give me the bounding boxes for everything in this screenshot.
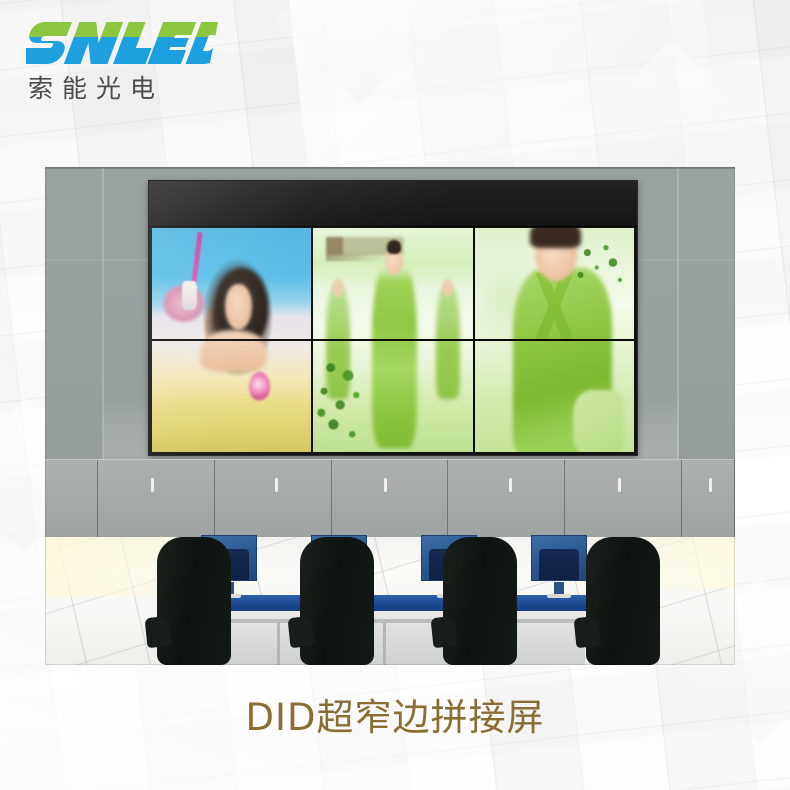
chair-armrest xyxy=(573,616,600,648)
wall-seam-left xyxy=(102,167,104,459)
panel-model-right-lower xyxy=(436,341,460,399)
video-wall-panel-2[interactable] xyxy=(313,228,472,339)
video-wall-top-bezel xyxy=(149,181,637,227)
panel-image-left-lower xyxy=(152,341,311,452)
brand-wordmark xyxy=(26,18,231,66)
panel-decorative-circles-lower xyxy=(316,350,383,448)
cabinet-3[interactable] xyxy=(215,460,332,538)
cabinet-4[interactable] xyxy=(332,460,449,538)
video-wall-panel-1[interactable] xyxy=(152,228,311,339)
cabinet-7[interactable] xyxy=(682,460,735,538)
brand-logo: 索能光电 xyxy=(26,18,256,118)
panel-prop-cup xyxy=(182,281,196,310)
cabinet-handle-icon xyxy=(275,478,278,492)
panel-image-right-lower xyxy=(475,341,634,452)
product-banner-page: 索能光电 xyxy=(0,0,790,790)
panel-prop-flower-lower xyxy=(249,372,270,401)
cabinet-handle-icon xyxy=(618,478,621,492)
video-wall-panel-grid xyxy=(152,228,634,452)
product-photo xyxy=(45,167,735,665)
wall-cabinets xyxy=(45,459,735,538)
video-wall-panel-3[interactable] xyxy=(475,228,634,339)
wall-seam-right xyxy=(677,167,679,459)
console-desk-divider-2 xyxy=(383,623,386,665)
wall-column-right xyxy=(679,167,735,459)
desk-monitor-4[interactable] xyxy=(531,535,587,581)
cabinet-handle-icon xyxy=(151,478,154,492)
video-wall-panel-4[interactable] xyxy=(152,341,311,452)
panel-decorative-dots xyxy=(570,239,627,301)
wall-ceiling-line xyxy=(45,167,735,169)
cabinet-handle-icon xyxy=(384,478,387,492)
cabinet-1[interactable] xyxy=(45,460,98,538)
panel-image-left xyxy=(152,228,311,339)
console-desk-divider-1 xyxy=(277,623,280,665)
panel-image-right xyxy=(475,228,634,339)
monitor-base xyxy=(547,594,571,598)
panel-image-middle-lower xyxy=(313,341,472,452)
panel-image-middle xyxy=(313,228,472,339)
cabinet-2[interactable] xyxy=(98,460,215,538)
panel-model-glove-lower xyxy=(573,390,624,452)
cabinet-handle-icon xyxy=(709,478,712,492)
console-desk-rail xyxy=(171,619,585,623)
cabinet-5[interactable] xyxy=(448,460,565,538)
brand-chinese-name: 索能光电 xyxy=(26,75,256,103)
cabinet-handle-icon xyxy=(509,478,512,492)
chair-armrest xyxy=(287,616,314,648)
panel-model-left-head xyxy=(332,279,343,297)
panel-subheadline-text xyxy=(326,254,387,262)
monitor-stand xyxy=(554,582,564,594)
video-wall-panel-6[interactable] xyxy=(475,341,634,452)
video-wall-panel-5[interactable] xyxy=(313,341,472,452)
cabinet-6[interactable] xyxy=(565,460,682,538)
chair-armrest xyxy=(430,616,457,648)
panel-model-center-hair xyxy=(387,240,401,253)
video-wall[interactable] xyxy=(148,180,638,456)
panel-model-arm-lower xyxy=(200,341,267,372)
chair-armrest xyxy=(144,616,171,648)
monitor-screen xyxy=(539,549,579,580)
wall-column-left xyxy=(45,167,103,459)
product-caption: DID超窄边拼接屏 xyxy=(0,697,790,740)
